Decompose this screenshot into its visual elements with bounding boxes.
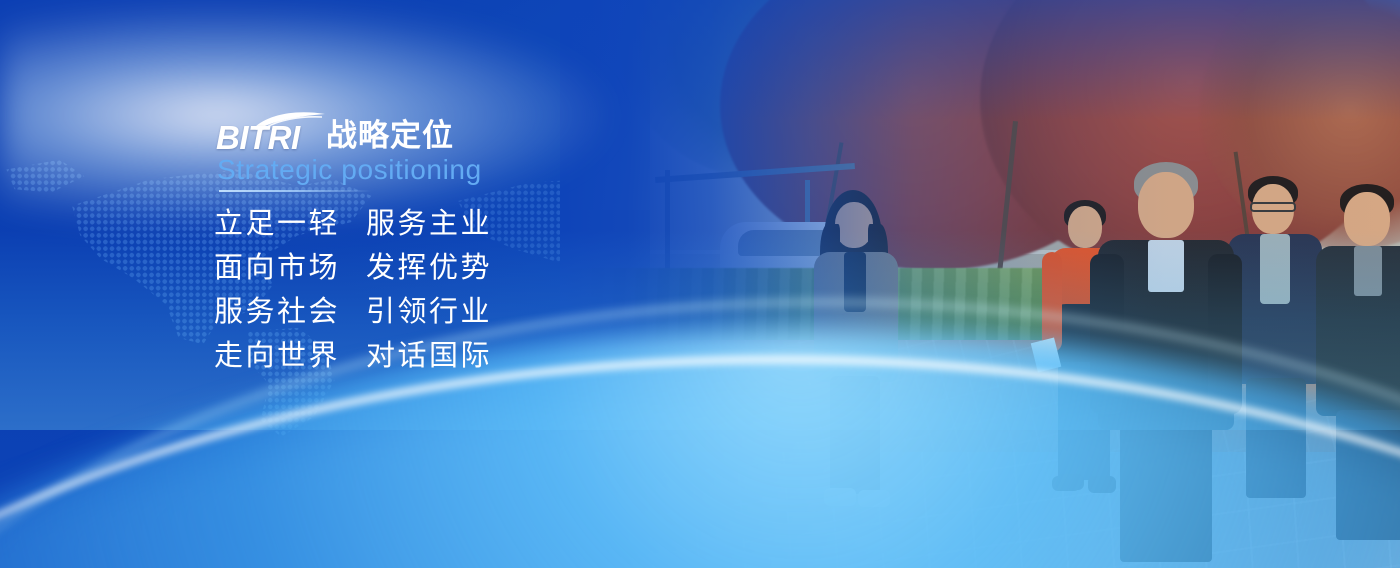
strategic-positioning-banner: BITRI 战略定位 Strategic positioning 立足一轻 服务… <box>0 0 1400 568</box>
banner-subtitle-en: Strategic positioning <box>217 155 482 185</box>
banner-title-cn: 战略定位 <box>326 120 454 152</box>
slogan-line: 立足一轻 服务主业 <box>214 209 492 239</box>
slogan-left: 走向世界 <box>214 341 340 371</box>
slogan-right: 服务主业 <box>366 209 492 239</box>
logo-title-row: BITRI 战略定位 <box>216 114 454 154</box>
banner-content: BITRI 战略定位 Strategic positioning 立足一轻 服务… <box>0 0 640 568</box>
slogan-line: 走向世界 对话国际 <box>214 341 492 371</box>
slogan-list: 立足一轻 服务主业 面向市场 发挥优势 服务社会 引领行业 走向世界 对话国际 <box>214 209 492 385</box>
slogan-left: 立足一轻 <box>214 209 340 239</box>
slogan-left: 服务社会 <box>214 297 340 327</box>
slogan-right: 对话国际 <box>366 341 492 371</box>
slogan-left: 面向市场 <box>214 253 340 283</box>
title-divider <box>219 190 371 192</box>
bitri-wordmark: BITRI <box>216 121 300 154</box>
bitri-logo: BITRI <box>216 114 312 154</box>
slogan-right: 发挥优势 <box>366 253 492 283</box>
slogan-line: 面向市场 发挥优势 <box>214 253 492 283</box>
slogan-line: 服务社会 引领行业 <box>214 297 492 327</box>
slogan-right: 引领行业 <box>366 297 492 327</box>
